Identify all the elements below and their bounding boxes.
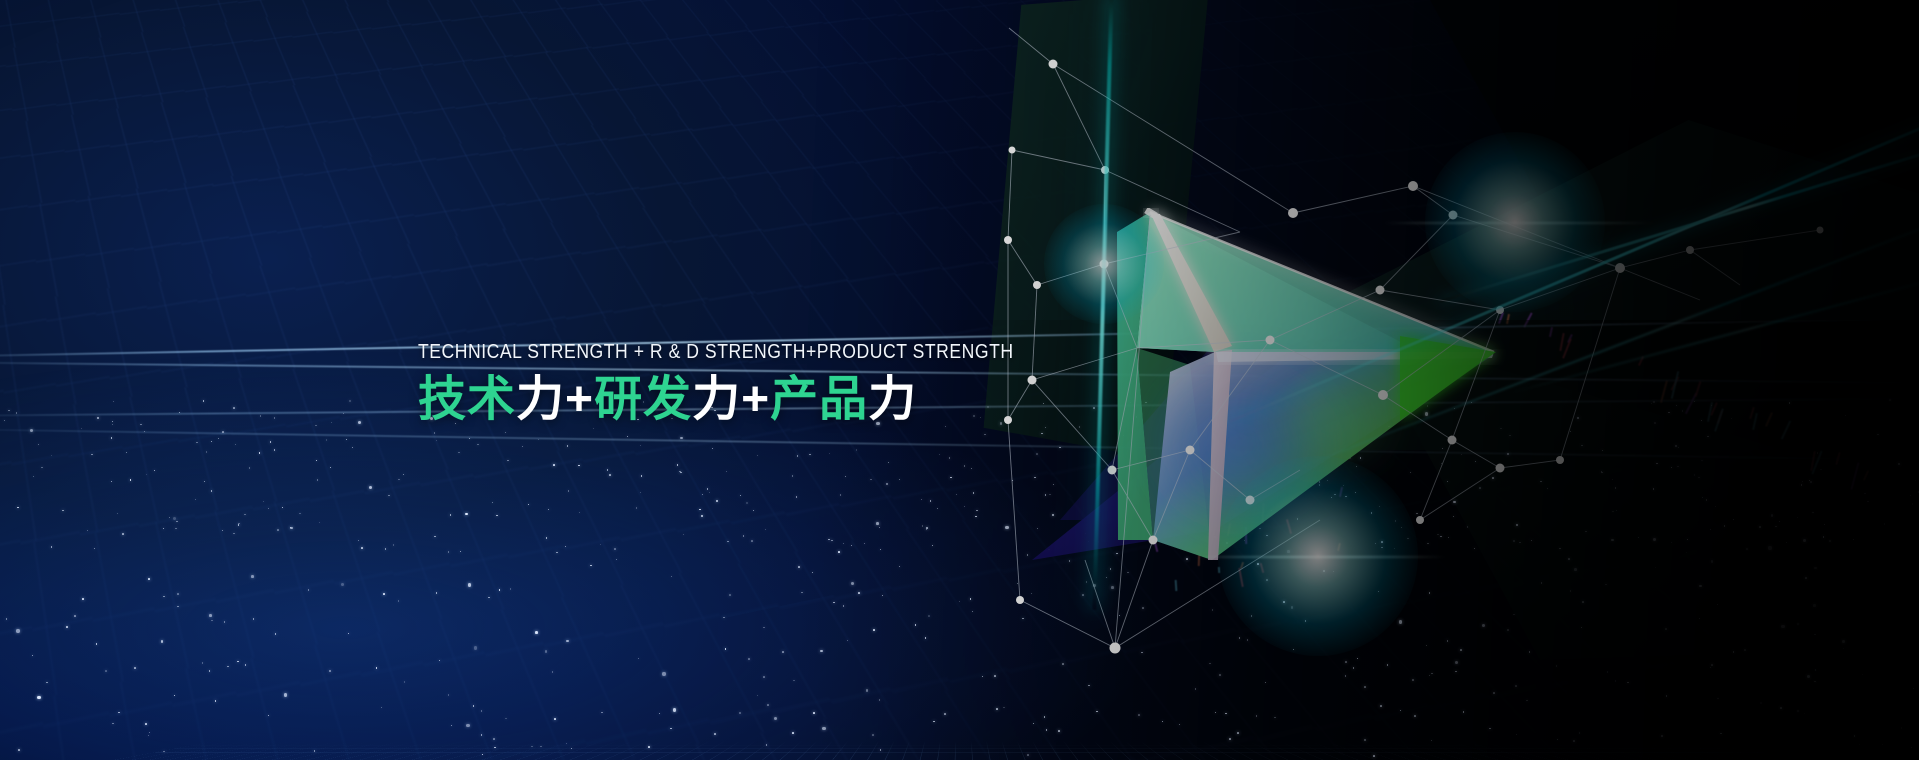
headline-chinese-part-6: 产品 xyxy=(770,373,868,426)
headline-chinese-part-5: + xyxy=(741,373,770,426)
headline-chinese: 技术力+研发力+产品力 xyxy=(418,372,1118,428)
hero-banner: TECHNICAL STRENGTH + R & D STRENGTH+PROD… xyxy=(0,0,1919,760)
headline-block: TECHNICAL STRENGTH + R & D STRENGTH+PROD… xyxy=(418,340,1118,428)
headline-chinese-part-2: + xyxy=(565,373,594,426)
headline-chinese-part-1: 力 xyxy=(516,373,565,426)
headline-english: TECHNICAL STRENGTH + R & D STRENGTH+PROD… xyxy=(418,340,1034,364)
headline-chinese-part-3: 研发 xyxy=(594,373,692,426)
headline-chinese-part-7: 力 xyxy=(868,373,917,426)
headline-chinese-part-4: 力 xyxy=(692,373,741,426)
headline-chinese-part-0: 技术 xyxy=(418,373,516,426)
